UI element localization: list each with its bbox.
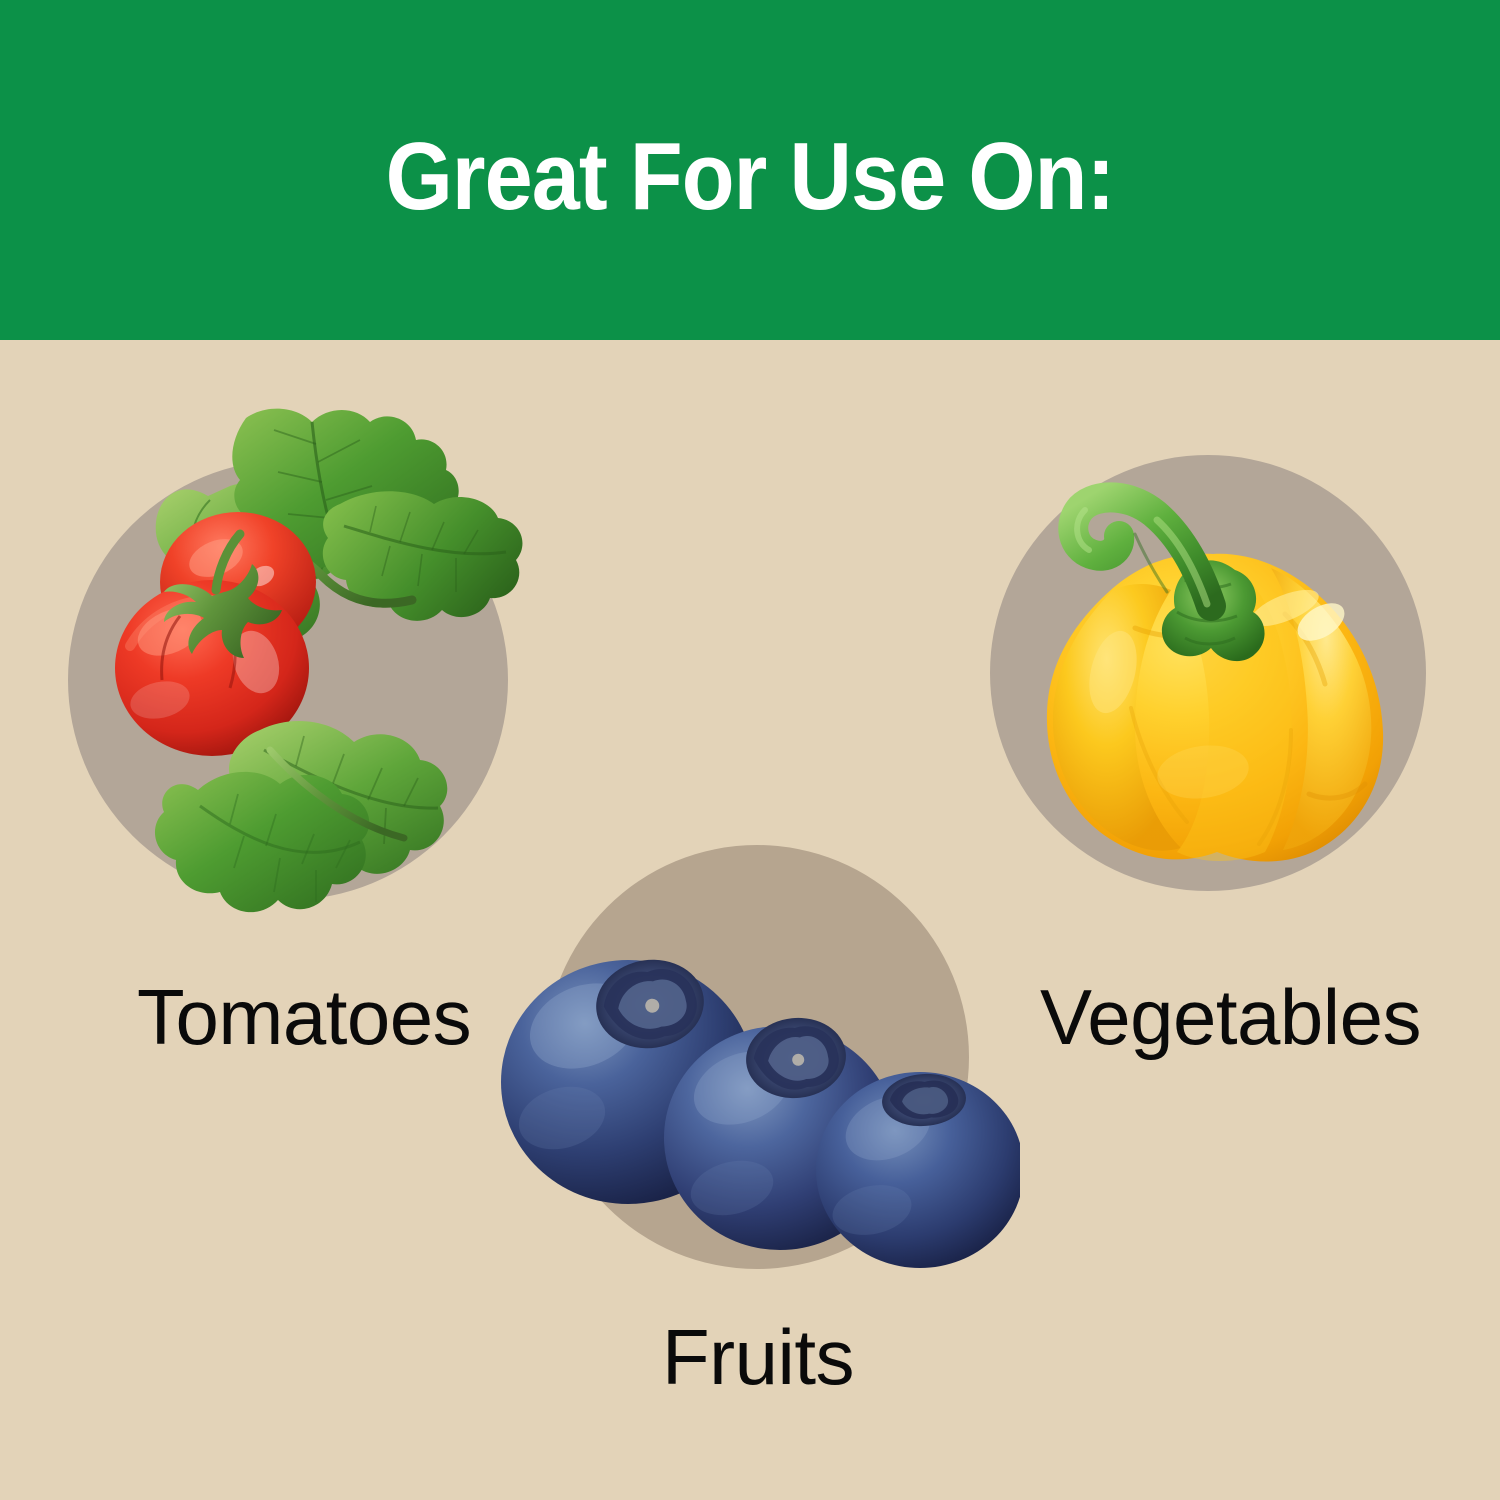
blueberries-photo bbox=[500, 930, 1020, 1270]
produce-label-fruits: Fruits bbox=[662, 1318, 854, 1396]
yellow-bell-pepper-photo bbox=[985, 440, 1455, 910]
produce-label-tomatoes: Tomatoes bbox=[137, 978, 471, 1056]
tomato-plant-photo bbox=[60, 400, 530, 970]
produce-label-vegetables: Vegetables bbox=[1040, 978, 1421, 1056]
promo-panel: Great For Use On: bbox=[0, 0, 1500, 1500]
